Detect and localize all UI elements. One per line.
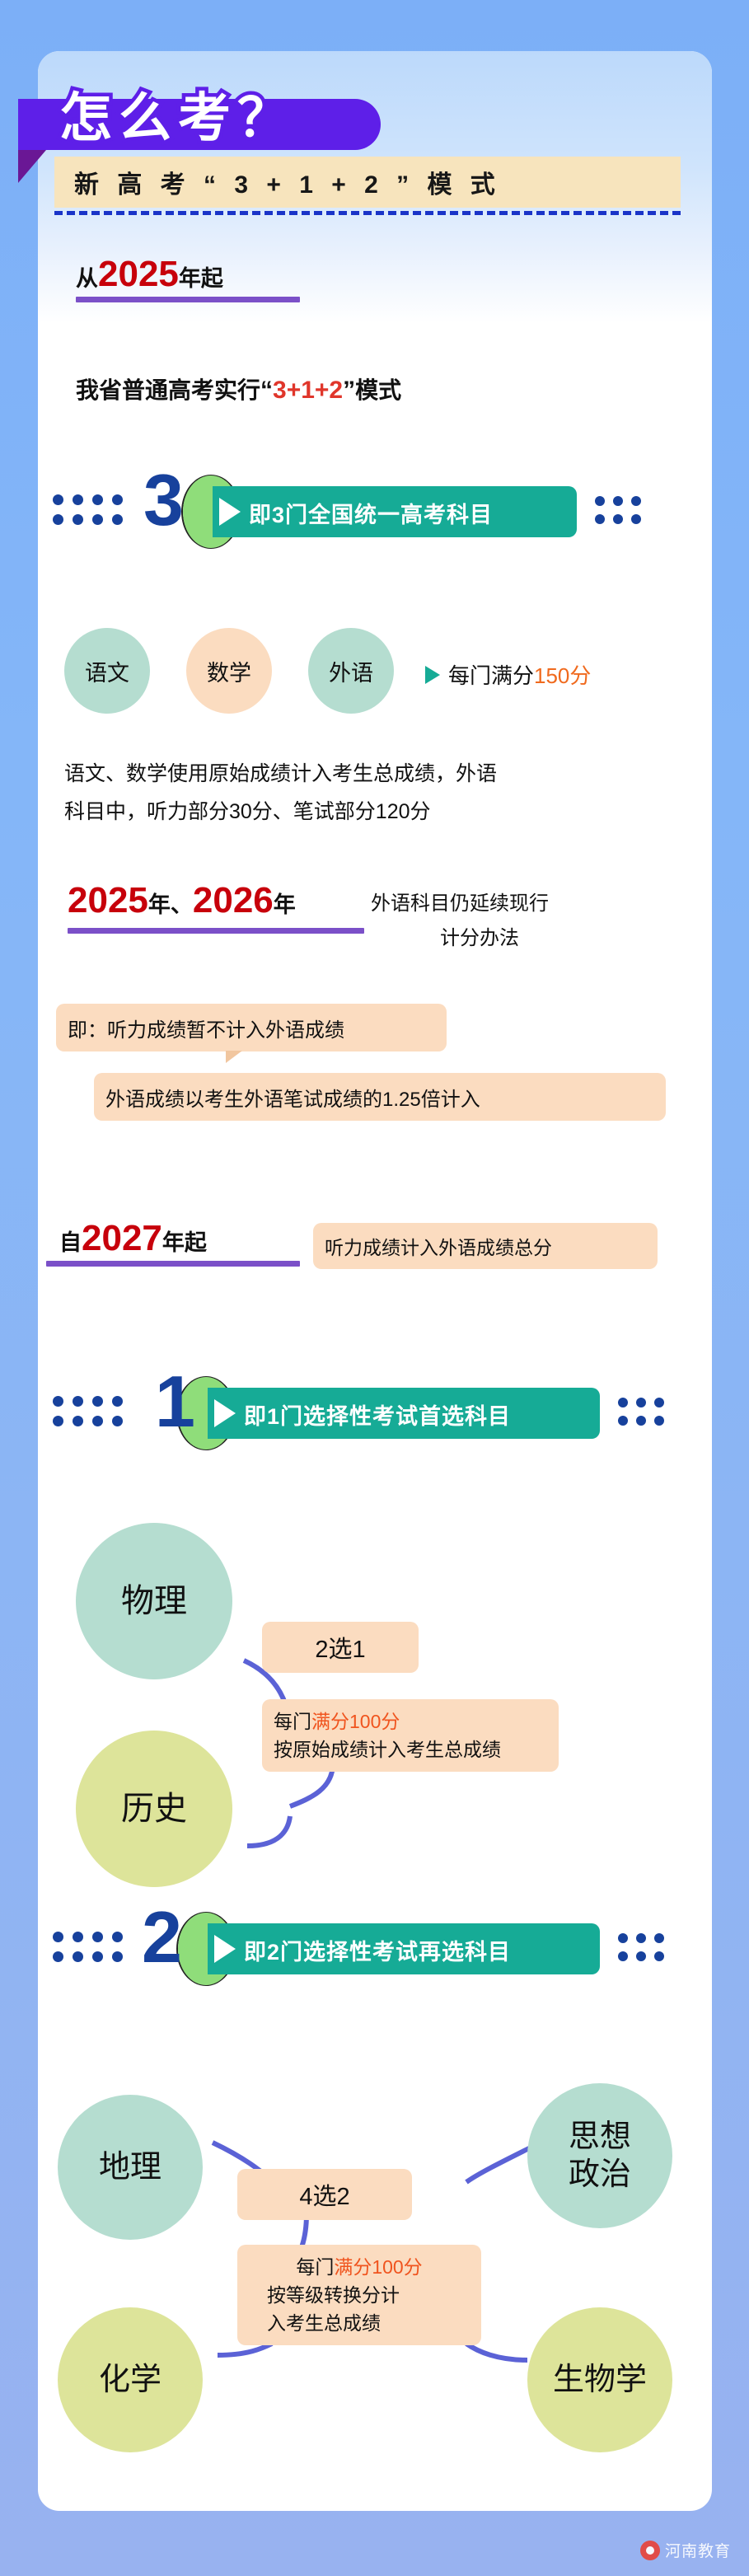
policy-statement-prefix: 我省普通高考实行 — [76, 377, 260, 403]
watermark: 河南教育 — [640, 2539, 731, 2561]
policy-statement-suffix: 模式 — [355, 377, 401, 403]
arrow-icon-2 — [214, 1935, 236, 1963]
note-2-line2: 按等级转换分计 — [249, 2281, 470, 2309]
year-2025-suffix: 年、 — [148, 892, 193, 917]
section-1-label: 即1门选择性考试首选科目 — [244, 1398, 511, 1431]
year-2026-suffix: 年 — [274, 892, 296, 917]
foreign-tail-line1: 外语科目仍延续现行 — [371, 885, 549, 923]
node-geography[interactable]: 地理 — [58, 2095, 203, 2240]
node-politics[interactable]: 思想 政治 — [527, 2083, 672, 2228]
page-title: 怎么考？ — [59, 76, 297, 152]
from-2025-underline — [76, 297, 300, 302]
node-chemistry[interactable]: 化学 — [58, 2307, 203, 2452]
node-geography-label: 地理 — [99, 2148, 162, 2186]
note-2-line3: 入考生总成绩 — [249, 2309, 470, 2337]
section-3-note-line2: 科目中，听力部分30分、笔试部分120分 — [64, 793, 431, 831]
section-2-label-bar[interactable]: 即2门选择性考试再选科目 — [208, 1923, 600, 1974]
section-3-header: 3 即3门全国统一高考科目 — [51, 473, 702, 549]
from-2025-suffix: 年起 — [179, 266, 223, 291]
dashed-divider — [54, 211, 681, 215]
policy-model-code: 3+1+2 — [273, 377, 343, 404]
year-2026: 2026 — [193, 880, 274, 920]
arrow-icon-1 — [214, 1399, 236, 1427]
triangle-marker-icon — [425, 666, 440, 684]
from-2025-heading: 从2025年起 — [76, 254, 223, 295]
quote-close: ” — [343, 377, 355, 404]
section-number-2: 2 — [142, 1904, 182, 1971]
section-number-3: 3 — [143, 466, 184, 534]
from-2027-year: 2027 — [82, 1218, 162, 1258]
weibo-eye-icon — [640, 2541, 660, 2560]
node-history[interactable]: 历史 — [76, 1731, 232, 1887]
note-1-line1-highlight: 满分100分 — [311, 1711, 400, 1732]
subtitle-banner: 新 高 考 “ 3 + 1 + 2 ” 模 式 — [54, 157, 681, 208]
from-2027-suffix: 年起 — [162, 1230, 207, 1255]
subject-chinese-label: 语文 — [85, 655, 129, 687]
score-150-prefix: 每门满分 — [448, 663, 534, 688]
callout-listening-not-counted: 即：听力成绩暂不计入外语成绩 — [56, 1004, 447, 1051]
box-choose-2-of-4: 4选2 — [237, 2169, 412, 2220]
section-3-note-line1: 语文、数学使用原始成绩计入考生总成绩，外语 — [64, 755, 497, 793]
section-number-1: 1 — [155, 1368, 195, 1436]
infographic-poster: 怎么考？ 新 高 考 “ 3 + 1 + 2 ” 模 式 从2025年起 我省普… — [0, 0, 749, 2576]
dots-left-3 — [51, 493, 127, 529]
section-1-header: 1 即1门选择性考试首选科目 — [51, 1375, 702, 1450]
section-2-header: 2 即2门选择性考试再选科目 — [51, 1910, 702, 1986]
note-section-2: 每门满分100分 按等级转换分计 入考生总成绩 — [237, 2245, 481, 2345]
node-politics-label-line1: 思想 — [569, 2118, 631, 2156]
from-2027-heading: 自2027年起 — [59, 1218, 207, 1259]
note-2-line1-highlight: 满分100分 — [334, 2256, 422, 2278]
callout-listening-text: 即：听力成绩暂不计入外语成绩 — [68, 1014, 344, 1042]
callout-listening-counted-2027: 听力成绩计入外语成绩总分 — [313, 1223, 658, 1269]
section-2-label: 即2门选择性考试再选科目 — [244, 1934, 511, 1966]
note-2-line1: 每门满分100分 — [249, 2253, 470, 2281]
from-2027-underline — [46, 1261, 300, 1267]
node-physics[interactable]: 物理 — [76, 1523, 232, 1679]
arrow-icon-3 — [219, 498, 241, 526]
dots-left-2 — [51, 1930, 127, 1966]
node-biology-label: 生物学 — [553, 2361, 647, 2399]
subject-math-label: 数学 — [207, 655, 251, 687]
note-2-line1-prefix: 每门 — [296, 2256, 334, 2278]
callout-2027-text: 听力成绩计入外语成绩总分 — [325, 1232, 552, 1260]
dots-right-1 — [618, 1396, 679, 1429]
node-politics-label-line2: 政治 — [569, 2156, 631, 2194]
policy-statement: 我省普通高考实行“3+1+2”模式 — [76, 372, 401, 405]
ribbon-tail-shape — [18, 150, 46, 183]
dots-right-2 — [618, 1932, 679, 1965]
note-1-line2: 按原始成绩计入考生总成绩 — [274, 1735, 547, 1763]
subject-foreign-label: 外语 — [329, 655, 373, 687]
note-1-line1: 每门满分100分 — [274, 1707, 547, 1735]
dots-right-3 — [595, 494, 656, 527]
score-per-subject-150: 每门满分150分 — [425, 659, 591, 690]
from-2025-prefix: 从 — [76, 266, 98, 291]
node-chemistry-label: 化学 — [99, 2361, 162, 2399]
score-150-value: 150分 — [534, 663, 591, 688]
year-2025: 2025 — [68, 880, 148, 920]
node-history-label: 历史 — [121, 1790, 187, 1828]
subject-chinese[interactable]: 语文 — [64, 628, 150, 714]
subtitle-text: 新 高 考 “ 3 + 1 + 2 ” 模 式 — [74, 164, 501, 200]
callout-written-text: 外语成绩以考生外语笔试成绩的1.25倍计入 — [105, 1083, 480, 1112]
years-underline — [68, 928, 364, 934]
box-choose-1-of-2-label: 2选1 — [315, 1630, 365, 1665]
foreign-tail-line2: 计分办法 — [440, 920, 519, 958]
note-section-1: 每门满分100分 按原始成绩计入考生总成绩 — [262, 1699, 559, 1772]
node-physics-label: 物理 — [121, 1582, 187, 1620]
subject-math[interactable]: 数学 — [186, 628, 272, 714]
quote-open: “ — [260, 377, 273, 404]
from-2025-year: 2025 — [98, 254, 179, 294]
section-1-label-bar[interactable]: 即1门选择性考试首选科目 — [208, 1388, 600, 1439]
section-3-label: 即3门全国统一高考科目 — [249, 497, 493, 529]
box-choose-1-of-2: 2选1 — [262, 1622, 419, 1673]
from-2027-prefix: 自 — [59, 1230, 82, 1255]
section-3-label-bar[interactable]: 即3门全国统一高考科目 — [213, 486, 577, 537]
dots-left-1 — [51, 1394, 127, 1431]
callout-written-multiplier: 外语成绩以考生外语笔试成绩的1.25倍计入 — [94, 1073, 666, 1121]
node-biology[interactable]: 生物学 — [527, 2307, 672, 2452]
box-choose-2-of-4-label: 4选2 — [299, 2177, 349, 2212]
watermark-text: 河南教育 — [665, 2539, 731, 2561]
subject-foreign[interactable]: 外语 — [308, 628, 394, 714]
note-1-line1-prefix: 每门 — [274, 1711, 311, 1732]
years-2025-2026-heading: 2025年、2026年 — [68, 880, 296, 921]
